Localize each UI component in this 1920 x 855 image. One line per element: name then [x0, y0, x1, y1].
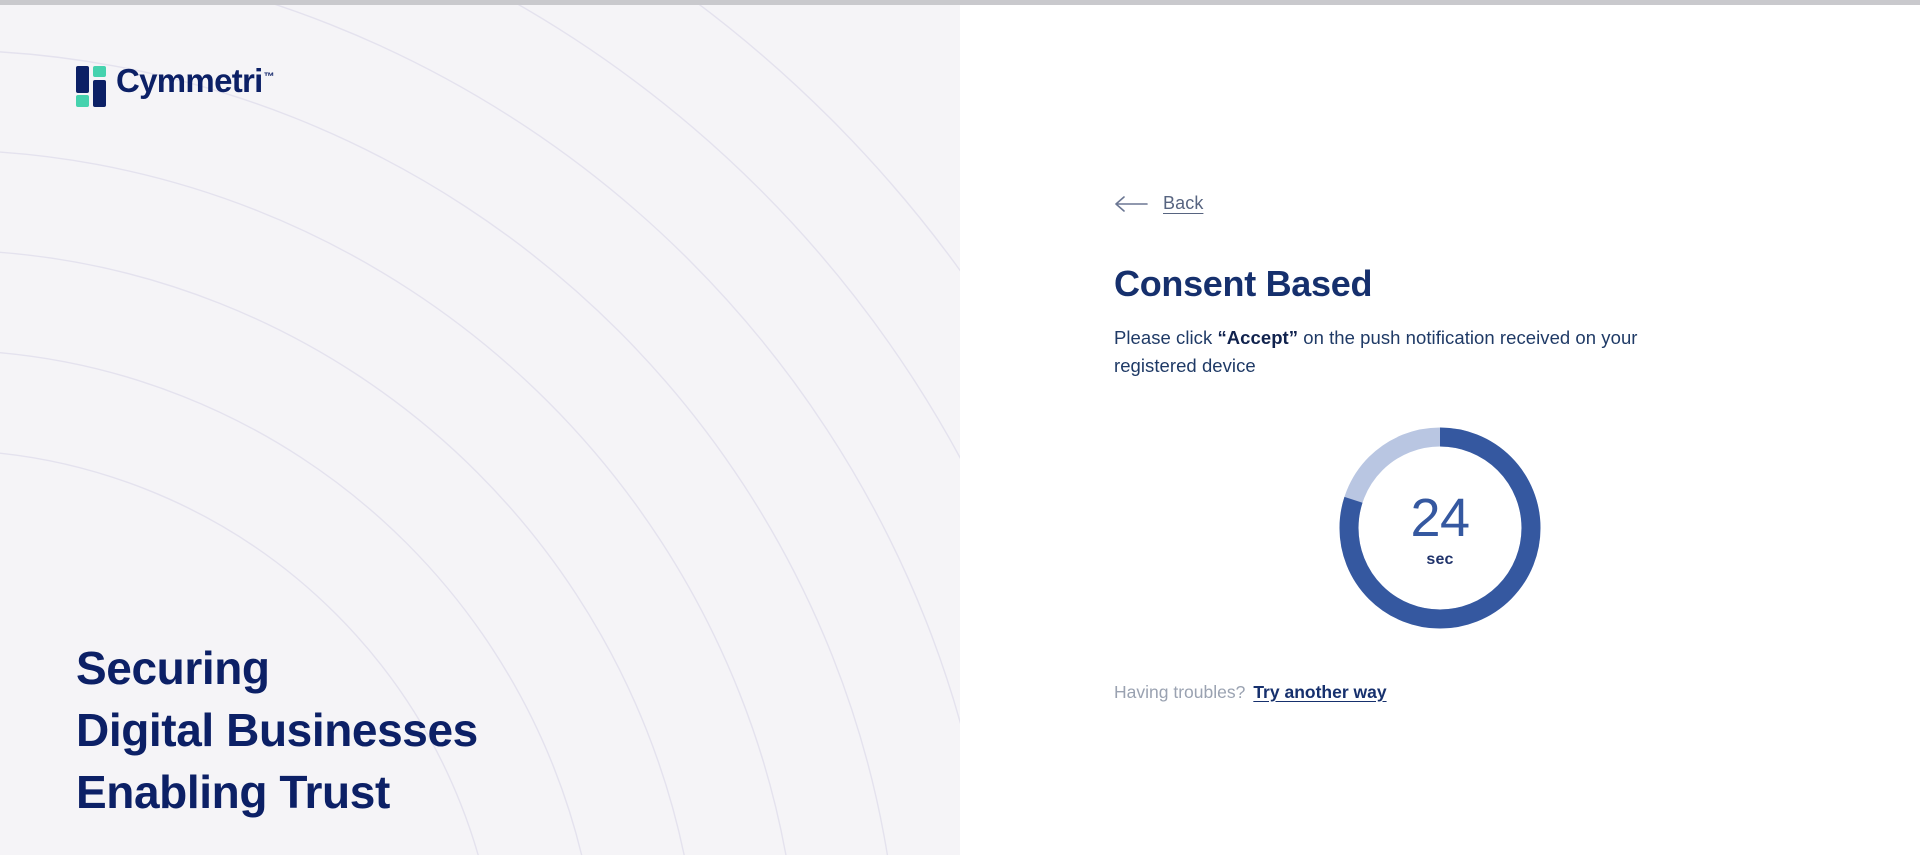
consent-based-auth-page: Cymmetri™ Securing Digital Businesses En…	[0, 0, 1920, 855]
trademark-symbol: ™	[264, 71, 274, 83]
instruction-emphasis: “Accept”	[1217, 327, 1298, 348]
trouble-prompt: Having troubles?	[1114, 682, 1245, 703]
back-button[interactable]: Back	[1114, 193, 1203, 214]
countdown-center-text: 24 sec	[1336, 424, 1544, 632]
brand-wordmark: Cymmetri™	[116, 62, 274, 100]
auth-form-container: Back Consent Based Please click “Accept”…	[1114, 0, 1754, 703]
headline-line-2: Digital Businesses	[76, 699, 478, 761]
marketing-headline: Securing Digital Businesses Enabling Tru…	[76, 637, 478, 823]
left-brand-panel: Cymmetri™ Securing Digital Businesses En…	[0, 0, 960, 855]
right-content-panel: Back Consent Based Please click “Accept”…	[960, 0, 1920, 855]
brand-name-text: Cymmetri	[116, 62, 263, 99]
top-strip	[0, 0, 1920, 5]
trouble-footer: Having troubles? Try another way	[1114, 682, 1754, 703]
page-title: Consent Based	[1114, 262, 1754, 306]
countdown-unit: sec	[1426, 551, 1453, 569]
try-another-way-link[interactable]: Try another way	[1253, 682, 1386, 703]
countdown-timer-region: 24 sec	[1114, 424, 1754, 632]
back-label: Back	[1163, 193, 1203, 214]
countdown-value: 24	[1410, 491, 1469, 545]
brand-logo: Cymmetri™	[76, 62, 274, 104]
cymmetri-logo-mark-icon	[76, 66, 107, 104]
headline-line-1: Securing	[76, 637, 478, 699]
arrow-left-icon	[1114, 196, 1148, 212]
headline-line-3: Enabling Trust	[76, 761, 478, 823]
countdown-timer: 24 sec	[1336, 424, 1544, 632]
instruction-text: Please click “Accept” on the push notifi…	[1114, 324, 1714, 380]
instruction-before: Please click	[1114, 327, 1217, 348]
